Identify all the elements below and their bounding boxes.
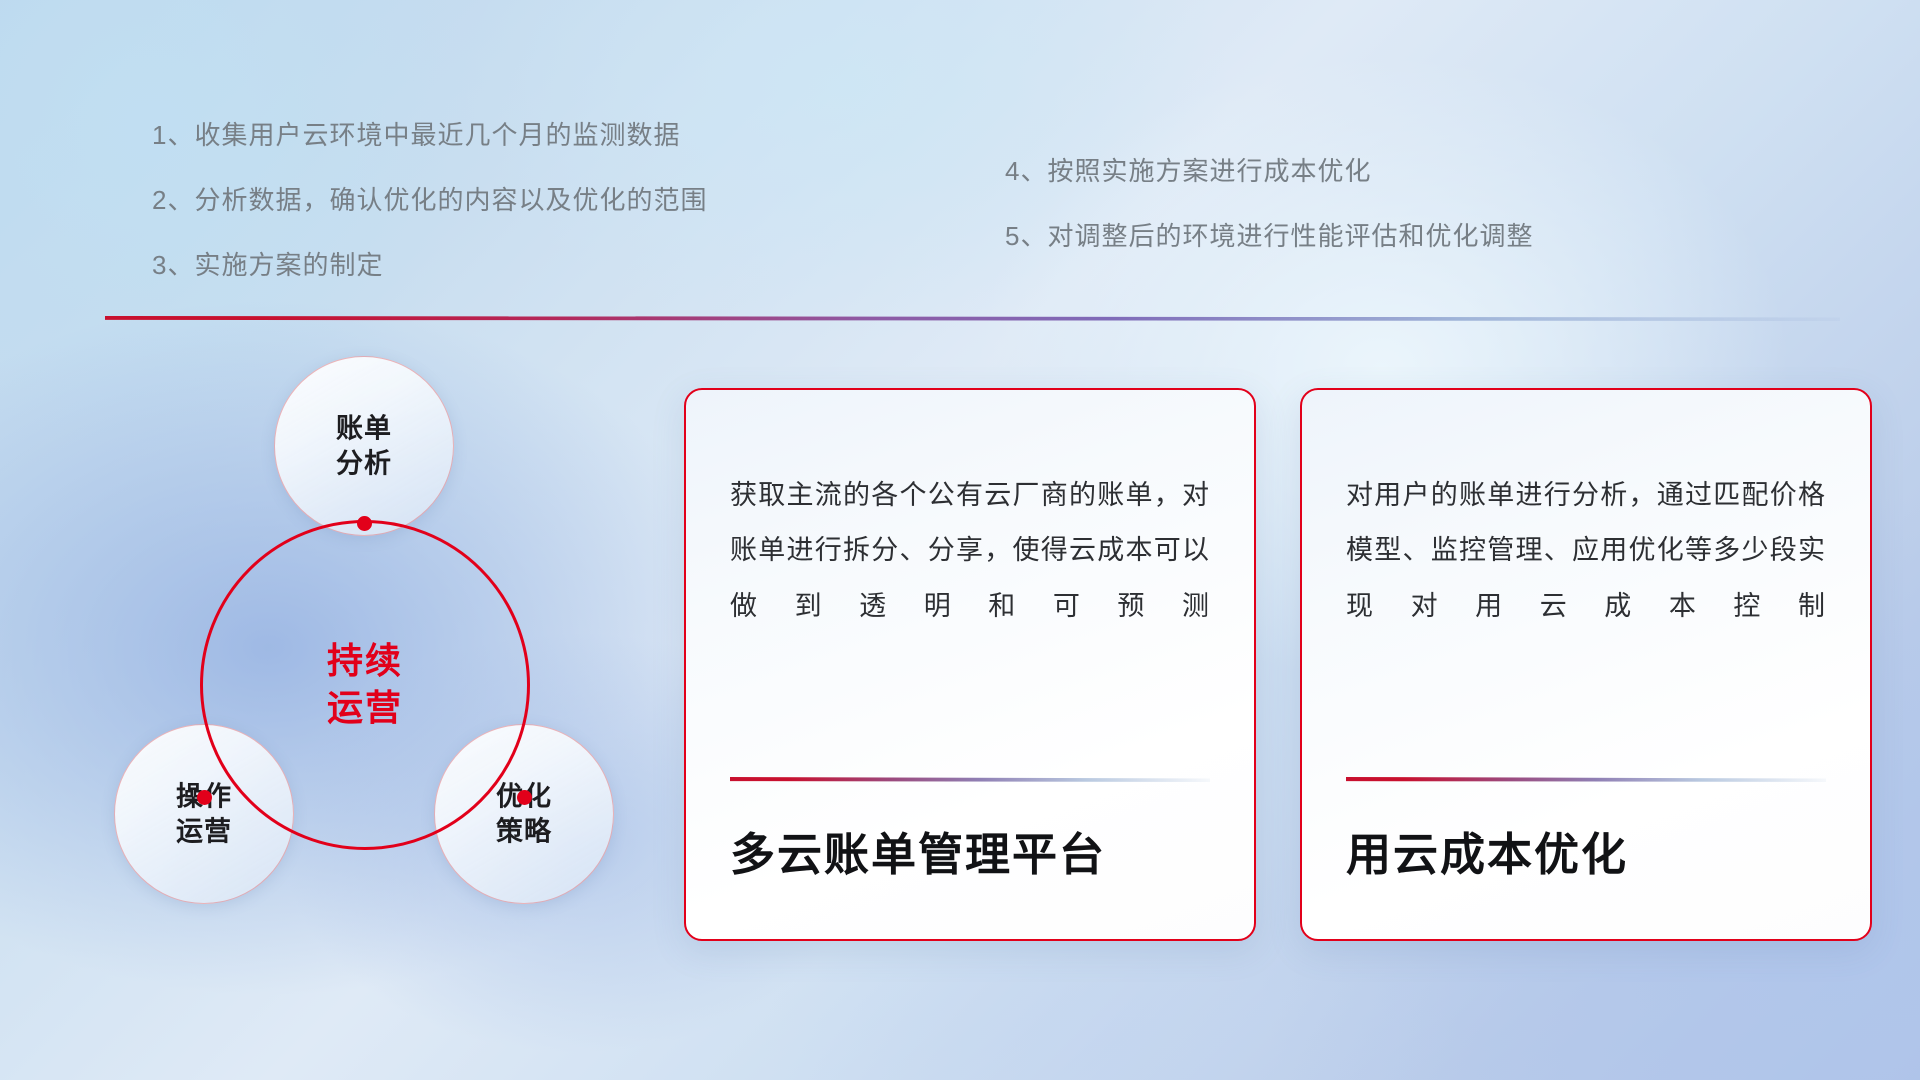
card-accent-rule	[1346, 777, 1826, 782]
feature-card-cost-optimization[interactable]: 对用户的账单进行分析，通过匹配价格模型、监控管理、应用优化等多少段实现对用云成本…	[1300, 388, 1872, 941]
process-step-3: 3、实施方案的制定	[152, 252, 707, 278]
process-step-5: 5、对调整后的环境进行性能评估和优化调整	[1005, 223, 1533, 249]
feature-card-body: 获取主流的各个公有云厂商的账单，对账单进行拆分、分享，使得云成本可以做到透明和可…	[730, 468, 1210, 634]
process-step-4: 4、按照实施方案进行成本优化	[1005, 158, 1533, 184]
venn-diagram: 账单 分析 操作 运营 优化 策略 持续 运营	[96, 352, 656, 952]
venn-center-line-2: 运营	[327, 687, 403, 728]
venn-label-continuous-operation: 持续 运营	[200, 520, 530, 850]
card-accent-rule	[730, 777, 1210, 782]
process-step-1: 1、收集用户云环境中最近几个月的监测数据	[152, 122, 707, 148]
venn-center-line-1: 持续	[327, 640, 403, 681]
venn-label-line-2: 分析	[336, 448, 392, 478]
venn-node-dot-right	[517, 790, 532, 805]
venn-label-line-1: 账单	[336, 413, 392, 443]
process-steps-right: 4、按照实施方案进行成本优化 5、对调整后的环境进行性能评估和优化调整	[1005, 158, 1533, 249]
venn-node-dot-left	[197, 790, 212, 805]
feature-card-body: 对用户的账单进行分析，通过匹配价格模型、监控管理、应用优化等多少段实现对用云成本…	[1346, 468, 1826, 634]
feature-card-billing-platform[interactable]: 获取主流的各个公有云厂商的账单，对账单进行拆分、分享，使得云成本可以做到透明和可…	[684, 388, 1256, 941]
venn-node-dot-top	[357, 516, 372, 531]
process-step-2: 2、分析数据，确认优化的内容以及优化的范围	[152, 187, 707, 213]
venn-label-bill-analysis: 账单 分析	[275, 411, 453, 480]
venn-circle-bill-analysis[interactable]: 账单 分析	[274, 356, 454, 536]
feature-card-title: 多云账单管理平台	[730, 818, 1210, 883]
process-steps-left: 1、收集用户云环境中最近几个月的监测数据 2、分析数据，确认优化的内容以及优化的…	[152, 122, 707, 278]
feature-card-title: 用云成本优化	[1346, 818, 1826, 883]
